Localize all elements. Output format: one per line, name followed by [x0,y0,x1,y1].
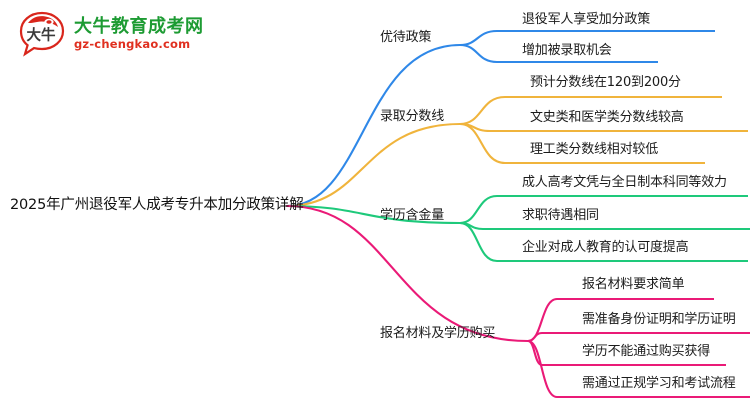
leaf-node-branch-baoming-cailiao-1: 需准备身份证明和学历证明 [582,313,736,326]
leaf-connector-branch-xueli-hanjinliang-0 [460,196,497,223]
leaf-node-branch-baoming-cailiao-2: 学历不能通过购买获得 [582,345,710,358]
leaf-connector-branch-youdai-zhengce-1 [460,45,497,62]
leaf-node-branch-baoming-cailiao-3: 需通过正规学习和考试流程 [582,377,736,390]
leaf-node-branch-luqu-fenshuxian-0: 预计分数线在120到200分 [530,76,681,89]
leaf-node-branch-youdai-zhengce-1: 增加被录取机会 [522,44,612,57]
leaf-node-branch-xueli-hanjinliang-2: 企业对成人教育的认可度提高 [522,241,688,254]
leaf-connector-branch-baoming-cailiao-1 [528,333,542,341]
topic-node-branch-xueli-hanjinliang: 学历含金量 [380,209,444,222]
branch-spine-branch-luqu-fenshuxian [287,124,460,206]
branch-spine-branch-baoming-cailiao [287,206,528,341]
leaf-connector-branch-luqu-fenshuxian-0 [460,97,505,124]
topic-node-branch-youdai-zhengce: 优待政策 [380,31,431,44]
leaf-connector-branch-baoming-cailiao-3 [528,341,557,397]
topic-node-branch-baoming-cailiao: 报名材料及学历购买 [380,327,495,340]
leaf-node-branch-luqu-fenshuxian-1: 文史类和医学类分数线较高 [530,111,684,124]
root-node-label: 2025年广州退役军人成考专升本加分政策详解 [10,198,304,213]
mindmap-page: 大牛 大牛教育成考网 gz-chengkao.com 2025年广州退役军人成考… [0,0,750,410]
leaf-node-branch-xueli-hanjinliang-1: 求职待遇相同 [522,209,599,222]
leaf-connector-branch-baoming-cailiao-0 [528,299,557,341]
leaf-node-branch-youdai-zhengce-0: 退役军人享受加分政策 [522,13,650,26]
leaf-node-branch-luqu-fenshuxian-2: 理工类分数线相对较低 [530,143,658,156]
leaf-node-branch-baoming-cailiao-0: 报名材料要求简单 [582,278,684,291]
leaf-node-branch-xueli-hanjinliang-0: 成人高考文凭与全日制本科同等效力 [522,176,727,189]
topic-node-branch-luqu-fenshuxian: 录取分数线 [380,110,444,123]
leaf-connector-branch-youdai-zhengce-0 [460,31,497,45]
